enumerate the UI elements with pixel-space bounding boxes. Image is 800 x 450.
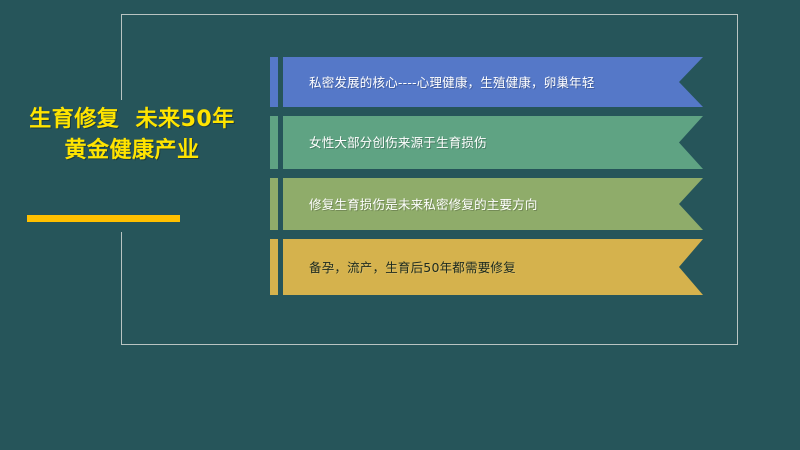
banner-body-2[interactable]: 女性大部分创伤来源于生育损伤 <box>283 116 703 169</box>
title-underline-bar <box>27 215 180 222</box>
banner-row-4[interactable]: 备孕，流产，生育后50年都需要修复 <box>270 239 703 295</box>
banner-body-3[interactable]: 修复生育损伤是未来私密修复的主要方向 <box>283 178 703 230</box>
banner-label-2: 女性大部分创伤来源于生育损伤 <box>283 134 525 151</box>
page-title: 生育修复 未来50年黄金健康产业 <box>28 104 236 166</box>
banner-body-4[interactable]: 备孕，流产，生育后50年都需要修复 <box>283 239 703 295</box>
banner-label-3: 修复生育损伤是未来私密修复的主要方向 <box>283 196 576 213</box>
banner-body-1[interactable]: 私密发展的核心----心理健康，生殖健康，卵巢年轻 <box>283 57 703 107</box>
banner-accent-tab-1 <box>270 57 278 107</box>
frame-line-top <box>121 14 738 15</box>
banner-row-1[interactable]: 私密发展的核心----心理健康，生殖健康，卵巢年轻 <box>270 57 703 107</box>
title-block: 生育修复 未来50年黄金健康产业 <box>28 104 236 166</box>
banner-tab-gap-3 <box>278 178 283 230</box>
frame-line-right <box>737 14 738 345</box>
banner-accent-tab-2 <box>270 116 278 169</box>
banner-accent-tab-4 <box>270 239 278 295</box>
slide-canvas: 生育修复 未来50年黄金健康产业 私密发展的核心----心理健康，生殖健康，卵巢… <box>0 0 800 450</box>
frame-line-left-lower <box>121 232 122 345</box>
banner-list: 私密发展的核心----心理健康，生殖健康，卵巢年轻 女性大部分创伤来源于生育损伤… <box>270 57 703 304</box>
frame-line-left-upper <box>121 14 122 100</box>
banner-label-1: 私密发展的核心----心理健康，生殖健康，卵巢年轻 <box>283 74 633 91</box>
banner-tab-gap-2 <box>278 116 283 169</box>
banner-accent-tab-3 <box>270 178 278 230</box>
banner-row-3[interactable]: 修复生育损伤是未来私密修复的主要方向 <box>270 178 703 230</box>
banner-tab-gap-1 <box>278 57 283 107</box>
banner-tab-gap-4 <box>278 239 283 295</box>
banner-row-2[interactable]: 女性大部分创伤来源于生育损伤 <box>270 116 703 169</box>
banner-label-4: 备孕，流产，生育后50年都需要修复 <box>283 259 554 276</box>
frame-line-bottom <box>121 344 738 345</box>
